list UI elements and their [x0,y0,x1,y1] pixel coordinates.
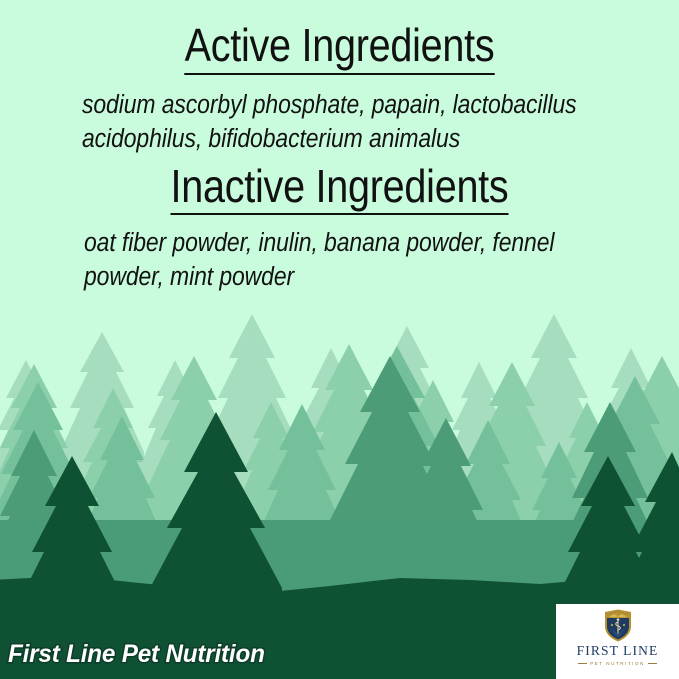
brand-wordmark: First Line Pet Nutrition [8,640,265,669]
active-ingredients-heading-text: Active Ingredients [185,22,495,75]
active-ingredients-heading: Active Ingredients [48,22,632,75]
logo-tagline: PET NUTRITION [590,661,645,666]
ingredient-label-graphic: Active Ingredients sodium ascorbyl phosp… [0,0,679,679]
logo-dash-right [648,663,657,664]
logo-dash-left [578,663,587,664]
active-ingredients-list: sodium ascorbyl phosphate, papain, lacto… [82,89,640,157]
logo-tagline-row: PET NUTRITION [578,661,657,666]
ingredients-text-block: Active Ingredients sodium ascorbyl phosp… [0,0,679,295]
shield-crest-icon [603,609,633,642]
inactive-ingredients-list: oat fiber powder, inulin, banana powder,… [84,227,624,295]
inactive-ingredients-heading-text: Inactive Ingredients [171,163,509,216]
logo-brand-name: FIRST LINE [577,643,659,659]
inactive-ingredients-heading: Inactive Ingredients [48,163,632,216]
brand-logo-card: FIRST LINE PET NUTRITION [556,604,679,679]
